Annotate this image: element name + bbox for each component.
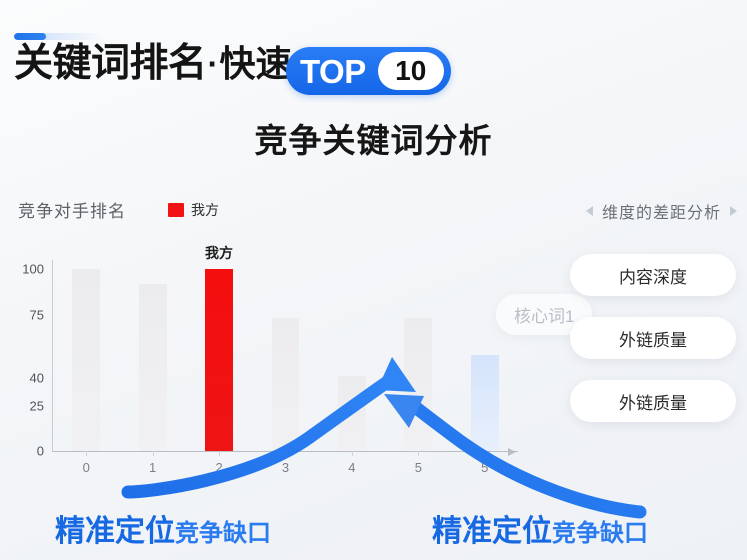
x-axis-tick: 5 bbox=[481, 460, 488, 475]
x-axis-tick-mark bbox=[352, 451, 353, 456]
bar[interactable] bbox=[72, 269, 100, 451]
dimension-pill[interactable]: 外链质量 bbox=[570, 380, 736, 422]
bar[interactable] bbox=[338, 376, 366, 451]
top-badge-label: TOP bbox=[300, 55, 378, 88]
x-axis-tick-mark bbox=[485, 451, 486, 456]
dimension-pill[interactable]: 外链质量 bbox=[570, 317, 736, 359]
bar-series: 01我方23455 bbox=[53, 260, 518, 451]
x-axis-tick: 3 bbox=[282, 460, 289, 475]
x-axis-tick: 5 bbox=[415, 460, 422, 475]
caption-right: 精准定位 竞争缺口 bbox=[432, 506, 648, 550]
bar[interactable] bbox=[471, 355, 499, 451]
bar-highlight-label: 我方 bbox=[205, 243, 233, 263]
caption-right-weak: 竞争缺口 bbox=[552, 513, 648, 548]
y-axis-tick: 0 bbox=[37, 444, 44, 459]
bar[interactable] bbox=[139, 284, 167, 451]
bar[interactable] bbox=[272, 318, 300, 451]
caption-left-strong: 精准定位 bbox=[55, 506, 175, 550]
dimension-pill-label: 外链质量 bbox=[619, 326, 687, 351]
legend-label: 我方 bbox=[191, 200, 219, 220]
caption-left-weak: 竞争缺口 bbox=[175, 513, 271, 548]
chart-header-right: 维度的差距分析 bbox=[586, 199, 737, 223]
x-axis-tick-mark bbox=[219, 451, 220, 456]
x-axis-tick-mark bbox=[286, 451, 287, 456]
triangle-right-icon[interactable] bbox=[730, 206, 737, 216]
title-main-text: 关键词排名 bbox=[14, 44, 207, 83]
caption-left: 精准定位 竞争缺口 bbox=[55, 506, 271, 550]
y-axis-tick: 75 bbox=[30, 307, 44, 322]
x-axis-tick-mark bbox=[153, 451, 154, 456]
chart-legend: 我方 bbox=[168, 200, 219, 220]
dimension-pill-label: 内容深度 bbox=[619, 263, 687, 288]
bar-chart: 1007540250 01我方23455 bbox=[8, 252, 528, 452]
x-axis-tick-mark bbox=[86, 451, 87, 456]
gap-analysis-title: 维度的差距分析 bbox=[602, 199, 721, 223]
page-title: 关键词排名 · 快速 bbox=[14, 44, 292, 83]
triangle-left-icon[interactable] bbox=[586, 206, 593, 216]
legend-swatch-icon bbox=[168, 203, 184, 217]
y-axis-tick: 100 bbox=[22, 262, 44, 277]
x-axis-tick: 0 bbox=[83, 460, 90, 475]
x-axis-tick: 1 bbox=[149, 460, 156, 475]
x-axis-tick: 2 bbox=[215, 460, 222, 475]
y-axis-tick: 40 bbox=[30, 371, 44, 386]
title-fast-text: 快速 bbox=[220, 46, 292, 82]
chart-title: 竞争对手排名 bbox=[18, 197, 126, 222]
y-axis-tick: 25 bbox=[30, 398, 44, 413]
bar[interactable]: 我方 bbox=[205, 269, 233, 451]
top-badge: TOP 10 bbox=[286, 47, 451, 95]
title-separator: · bbox=[207, 45, 220, 83]
progress-indicator bbox=[14, 33, 106, 40]
progress-fill bbox=[14, 33, 46, 40]
chart-header-left: 竞争对手排名 我方 bbox=[18, 197, 219, 222]
caption-right-strong: 精准定位 bbox=[432, 506, 552, 550]
bar[interactable] bbox=[404, 318, 432, 451]
dimension-pill-list: 内容深度外链质量外链质量 bbox=[570, 254, 736, 422]
x-axis-tick-mark bbox=[418, 451, 419, 456]
top-badge-number: 10 bbox=[378, 52, 444, 90]
dimension-pill[interactable]: 内容深度 bbox=[570, 254, 736, 296]
page-subtitle: 竞争关键词分析 bbox=[0, 114, 747, 162]
x-axis-tick: 4 bbox=[348, 460, 355, 475]
dimension-pill-label: 外链质量 bbox=[619, 389, 687, 414]
